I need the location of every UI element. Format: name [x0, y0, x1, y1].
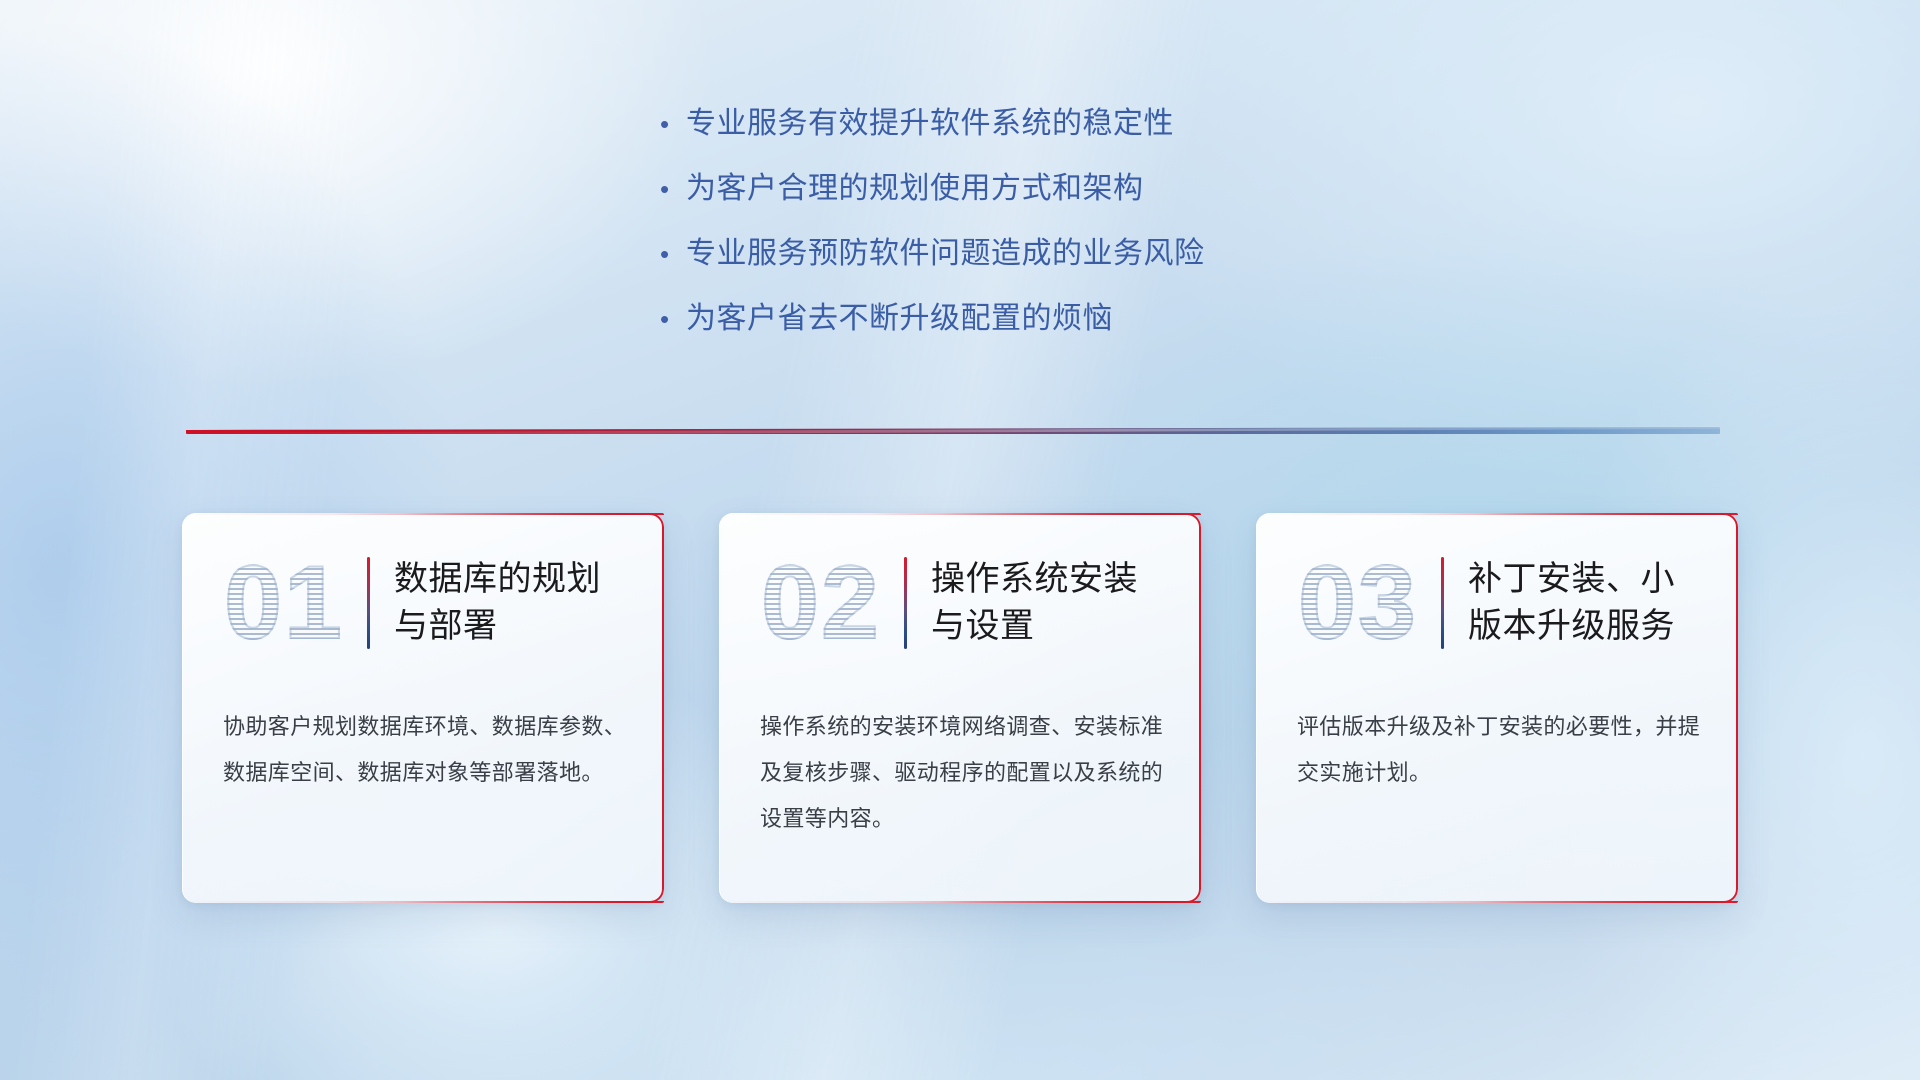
bullet-list: • 专业服务有效提升软件系统的稳定性 • 为客户合理的规划使用方式和架构 • 专…: [660, 104, 1420, 364]
bullet-text: 为客户合理的规划使用方式和架构: [686, 169, 1144, 209]
card-title: 操作系统安装与设置: [931, 556, 1169, 650]
service-card-group: 01 数据库的规划与部署 协助客户规划数据库环境、数据库参数、数据库空间、数据库…: [182, 513, 1738, 903]
card-header: 01 数据库的规划与部署: [183, 514, 664, 692]
bullet-dot-icon: •: [660, 234, 686, 274]
card-body-text: 操作系统的安装环境网络调查、安装标准及复核步骤、驱动程序的配置以及系统的设置等内…: [760, 704, 1167, 842]
list-item: • 专业服务有效提升软件系统的稳定性: [660, 104, 1420, 169]
card-accent-top-edge: [871, 513, 1201, 515]
list-item: • 为客户合理的规划使用方式和架构: [660, 169, 1420, 234]
card-number-badge: 03: [1283, 541, 1433, 665]
card-header: 02 操作系统安装与设置: [720, 514, 1201, 692]
card-body-text: 协助客户规划数据库环境、数据库参数、数据库空间、数据库对象等部署落地。: [223, 704, 630, 796]
card-surface: 01 数据库的规划与部署 协助客户规划数据库环境、数据库参数、数据库空间、数据库…: [182, 513, 664, 903]
card-surface: 02 操作系统安装与设置 操作系统的安装环境网络调查、安装标准及复核步骤、驱动程…: [719, 513, 1201, 903]
bullet-dot-icon: •: [660, 299, 686, 339]
card-surface: 03 补丁安装、小版本升级服务 评估版本升级及补丁安装的必要性，并提交实施计划。: [1256, 513, 1738, 903]
card-accent-bottom-edge: [871, 901, 1201, 903]
card-accent-top-edge: [334, 513, 664, 515]
list-item: • 专业服务预防软件问题造成的业务风险: [660, 234, 1420, 299]
service-card[interactable]: 03 补丁安装、小版本升级服务 评估版本升级及补丁安装的必要性，并提交实施计划。: [1256, 513, 1738, 903]
card-accent-bottom-edge: [334, 901, 664, 903]
service-card[interactable]: 01 数据库的规划与部署 协助客户规划数据库环境、数据库参数、数据库空间、数据库…: [182, 513, 664, 903]
card-body-text: 评估版本升级及补丁安装的必要性，并提交实施计划。: [1297, 704, 1704, 796]
card-title: 数据库的规划与部署: [394, 556, 632, 650]
card-header: 03 补丁安装、小版本升级服务: [1257, 514, 1738, 692]
section-divider: [186, 424, 1720, 438]
card-title: 补丁安装、小版本升级服务: [1468, 556, 1706, 650]
card-title-divider: [904, 557, 907, 649]
card-number-badge: 02: [746, 541, 896, 665]
card-accent-bottom-edge: [1408, 901, 1738, 903]
bullet-text: 专业服务有效提升软件系统的稳定性: [686, 104, 1174, 144]
slide-canvas: • 专业服务有效提升软件系统的稳定性 • 为客户合理的规划使用方式和架构 • 专…: [0, 0, 1920, 1080]
bullet-text: 专业服务预防软件问题造成的业务风险: [686, 234, 1205, 274]
card-title-divider: [1441, 557, 1444, 649]
service-card[interactable]: 02 操作系统安装与设置 操作系统的安装环境网络调查、安装标准及复核步骤、驱动程…: [719, 513, 1201, 903]
bullet-dot-icon: •: [660, 169, 686, 209]
bullet-dot-icon: •: [660, 104, 686, 144]
card-title-divider: [367, 557, 370, 649]
list-item: • 为客户省去不断升级配置的烦恼: [660, 299, 1420, 364]
card-accent-top-edge: [1408, 513, 1738, 515]
bullet-text: 为客户省去不断升级配置的烦恼: [686, 299, 1113, 339]
card-number-badge: 01: [209, 541, 359, 665]
